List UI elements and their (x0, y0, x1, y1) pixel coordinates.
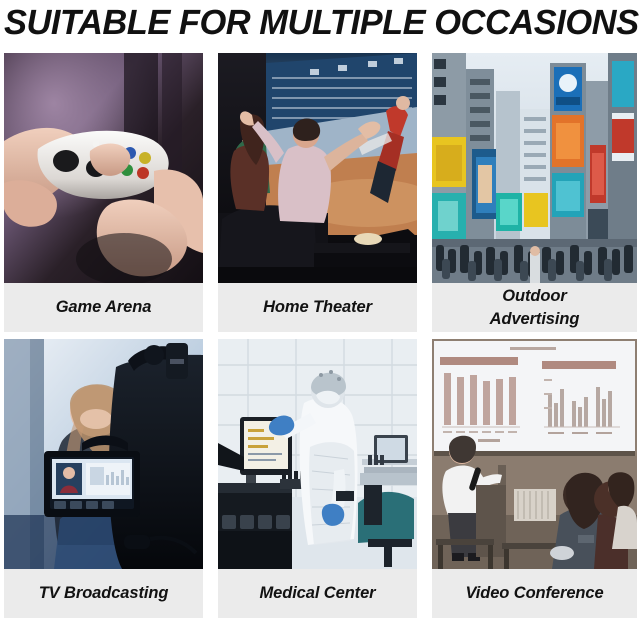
video-conference-illustration (432, 339, 637, 569)
card-label-outdoor-advertising-text: Outdoor Advertising (490, 285, 580, 331)
outdoor-advertising-illustration (432, 53, 637, 283)
medical-center-illustration (218, 339, 417, 569)
card-label-outdoor-advertising: Outdoor Advertising (432, 283, 637, 332)
card-game-arena[interactable]: Game Arena (4, 53, 203, 332)
card-video-conference[interactable]: Video Conference (432, 339, 637, 618)
photo-tv-broadcasting (4, 339, 203, 569)
photo-outdoor-advertising (432, 53, 637, 283)
card-label-tv-broadcasting: TV Broadcasting (4, 569, 203, 618)
photo-home-theater (218, 53, 417, 283)
home-theater-illustration (218, 53, 417, 283)
photo-medical-center (218, 339, 417, 569)
promo-banner: SUITABLE FOR MULTIPLE OCCASIONS (0, 0, 640, 621)
page-title: SUITABLE FOR MULTIPLE OCCASIONS (0, 0, 630, 50)
card-outdoor-advertising[interactable]: Outdoor Advertising (432, 53, 637, 332)
occasions-grid: Game Arena (4, 53, 637, 618)
label-line-2: Advertising (490, 310, 580, 328)
photo-game-arena (4, 53, 203, 283)
tv-broadcasting-illustration (4, 339, 203, 569)
card-label-medical-center: Medical Center (218, 569, 417, 618)
photo-video-conference (432, 339, 637, 569)
label-line-1: Outdoor (502, 287, 566, 305)
card-tv-broadcasting[interactable]: TV Broadcasting (4, 339, 203, 618)
card-home-theater[interactable]: Home Theater (218, 53, 417, 332)
game-arena-illustration (4, 53, 203, 283)
card-label-home-theater: Home Theater (218, 283, 417, 332)
card-medical-center[interactable]: Medical Center (218, 339, 417, 618)
card-label-game-arena: Game Arena (4, 283, 203, 332)
card-label-video-conference: Video Conference (432, 569, 637, 618)
